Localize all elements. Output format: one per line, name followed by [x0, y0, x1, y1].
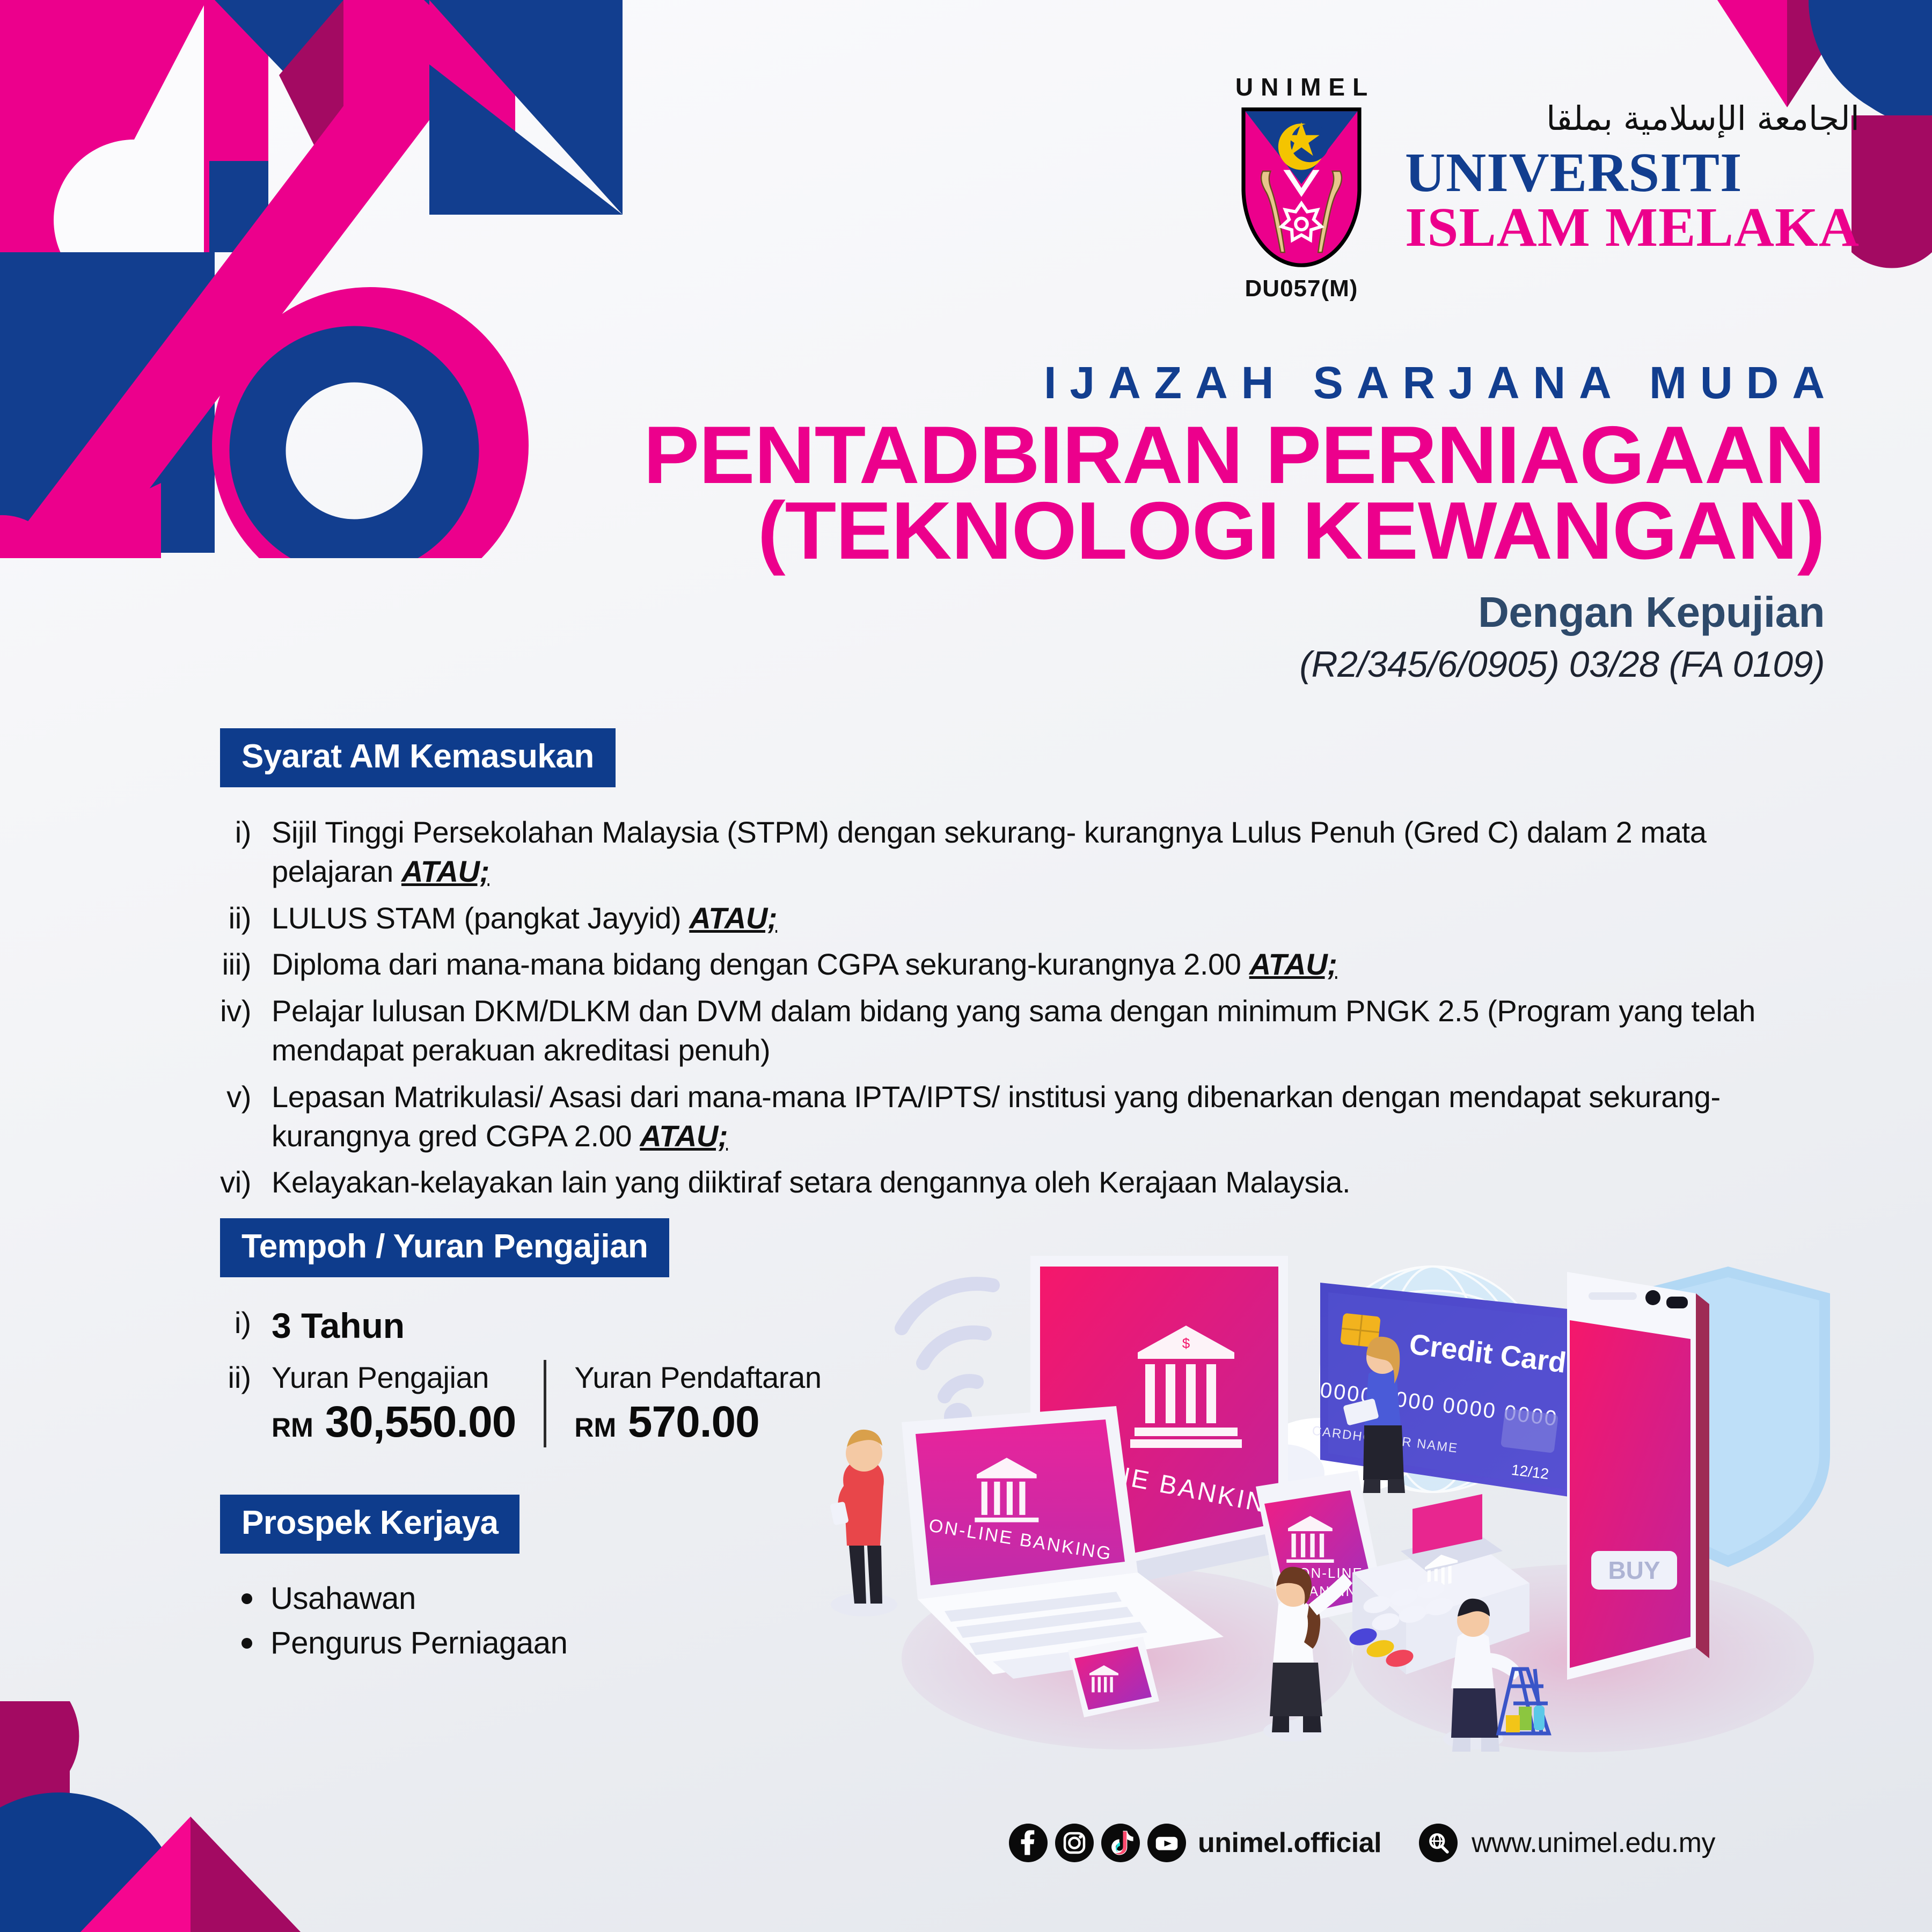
fee-registration-label: Yuran Pendaftaran: [574, 1360, 821, 1394]
list-item-emphasis: ATAU;: [640, 1119, 728, 1153]
tempoh-heading-badge: Tempoh / Yuran Pengajian: [220, 1218, 669, 1277]
svg-text:$: $: [1182, 1335, 1190, 1351]
footer-contact-bar: unimel.official www.unimel.edu.my: [1009, 1824, 1715, 1862]
syarat-heading-badge: Syarat AM Kemasukan: [220, 728, 616, 787]
list-item: iv) Pelajar lulusan DKM/DLKM dan DVM dal…: [220, 992, 1819, 1070]
university-name-column: الجامعة الإسلامية بملقا UNIVERSITI ISLAM…: [1405, 72, 1860, 255]
fees-group: Yuran Pengajian RM 30,550.00 Yuran Penda…: [272, 1360, 850, 1447]
globe-search-icon[interactable]: [1419, 1824, 1458, 1862]
list-item-numeral: v): [220, 1078, 272, 1117]
buy-button-label: BUY: [1608, 1556, 1660, 1584]
list-item: v) Lepasan Matrikulasi/ Asasi dari mana-…: [220, 1078, 1819, 1156]
list-item-text: Kelayakan-kelayakan lain yang diiktiraf …: [272, 1163, 1819, 1202]
social-icon-row: [1009, 1824, 1186, 1862]
social-handle-label[interactable]: unimel.official: [1198, 1827, 1381, 1859]
list-item-text: LULUS STAM (pangkat Jayyid) ATAU;: [272, 899, 1819, 938]
arabic-university-name: الجامعة الإسلامية بملقا: [1405, 100, 1860, 137]
currency-symbol: RM: [272, 1413, 313, 1443]
list-item-label: Pengurus Perniagaan: [270, 1625, 567, 1661]
list-item-label: Usahawan: [270, 1580, 416, 1616]
title-honours: Dengan Kepujian: [472, 588, 1825, 637]
buy-phone: BUY: [1567, 1272, 1709, 1680]
list-item-emphasis: ATAU;: [1249, 947, 1337, 981]
fee-tuition-label: Yuran Pengajian: [272, 1360, 489, 1394]
fee-registration: Yuran Pendaftaran RM 570.00: [544, 1360, 849, 1447]
university-name-line1: UNIVERSITI: [1405, 145, 1860, 200]
list-item-numeral: i): [220, 1305, 272, 1340]
duration-value: 3 Tahun: [272, 1305, 405, 1346]
prospek-heading-badge: Prospek Kerjaya: [220, 1495, 519, 1554]
university-name-line2: ISLAM MELAKA: [1405, 200, 1860, 255]
registration-code: DU057(M): [1245, 275, 1358, 302]
list-item-numeral: iv): [220, 992, 272, 1031]
title-main-line1: PENTADBIRAN PERNIAGAAN: [431, 418, 1825, 493]
unimel-crest-icon: [1237, 107, 1366, 268]
list-item-body: Diploma dari mana-mana bidang dengan CGP…: [272, 947, 1249, 981]
list-item-body: Pelajar lulusan DKM/DLKM dan DVM dalam b…: [272, 994, 1755, 1067]
website-url-label[interactable]: www.unimel.edu.my: [1472, 1827, 1715, 1859]
bullet-dot-icon: [241, 1593, 252, 1604]
tiktok-icon[interactable]: [1101, 1824, 1140, 1862]
amount-value: 30,550.00: [325, 1397, 516, 1446]
decorative-pattern-bottom-left: [0, 1701, 408, 1932]
list-item-body: Lepasan Matrikulasi/ Asasi dari mana-man…: [272, 1080, 1721, 1153]
fee-registration-amount: RM 570.00: [574, 1397, 821, 1447]
social-media-group: unimel.official: [1009, 1824, 1381, 1862]
website-group: www.unimel.edu.my: [1419, 1824, 1715, 1862]
instagram-icon[interactable]: [1055, 1824, 1094, 1862]
title-accreditation-code: (R2/345/6/0905) 03/28 (FA 0109): [472, 643, 1825, 685]
amount-value: 570.00: [628, 1397, 759, 1446]
university-logo-block: UNIMEL DU057(M) الجامعة الإسلامية بملقا …: [1229, 72, 1860, 302]
bullet-dot-icon: [241, 1638, 252, 1649]
list-item-numeral: iii): [220, 945, 272, 984]
list-item-numeral: i): [220, 813, 272, 852]
program-title-block: IJAZAH SARJANA MUDA PENTADBIRAN PERNIAGA…: [472, 357, 1825, 685]
facebook-icon[interactable]: [1009, 1824, 1048, 1862]
list-item-text: Pelajar lulusan DKM/DLKM dan DVM dalam b…: [272, 992, 1819, 1070]
list-item-numeral: vi): [220, 1163, 272, 1202]
unimel-wordmark: UNIMEL: [1228, 72, 1375, 101]
list-item: iii) Diploma dari mana-mana bidang denga…: [220, 945, 1819, 984]
list-item-text: Diploma dari mana-mana bidang dengan CGP…: [272, 945, 1819, 984]
title-kicker: IJAZAH SARJANA MUDA: [472, 357, 1838, 409]
fee-tuition: Yuran Pengajian RM 30,550.00: [272, 1360, 544, 1447]
syarat-list: i) Sijil Tinggi Persekolahan Malaysia (S…: [220, 813, 1819, 1202]
list-item-emphasis: ATAU;: [401, 854, 489, 888]
list-item-body: Kelayakan-kelayakan lain yang diiktiraf …: [272, 1165, 1350, 1199]
youtube-icon[interactable]: [1147, 1824, 1186, 1862]
list-item-body: LULUS STAM (pangkat Jayyid): [272, 901, 689, 935]
title-main-line2: (TEKNOLOGI KEWANGAN): [431, 493, 1825, 569]
wifi-icon: [902, 1284, 993, 1396]
list-item-numeral: ii): [220, 899, 272, 938]
currency-symbol: RM: [574, 1413, 616, 1443]
list-item-text: Lepasan Matrikulasi/ Asasi dari mana-man…: [272, 1078, 1819, 1156]
list-item-text: Sijil Tinggi Persekolahan Malaysia (STPM…: [272, 813, 1819, 891]
list-item-emphasis: ATAU;: [689, 901, 777, 935]
list-item: vi) Kelayakan-kelayakan lain yang diikti…: [220, 1163, 1819, 1202]
section-syarat-am-kemasukan: Syarat AM Kemasukan i) Sijil Tinggi Pers…: [220, 728, 1819, 1210]
list-item-numeral: ii): [220, 1360, 272, 1395]
fintech-illustration: $ ON-LINE BANKING ON-LINE BANKING: [816, 1229, 1868, 1766]
list-item: ii) LULUS STAM (pangkat Jayyid) ATAU;: [220, 899, 1819, 938]
list-item: i) Sijil Tinggi Persekolahan Malaysia (S…: [220, 813, 1819, 891]
person-man-red: [830, 1430, 897, 1616]
crest-column: UNIMEL DU057(M): [1229, 72, 1374, 302]
fee-tuition-amount: RM 30,550.00: [272, 1397, 516, 1447]
